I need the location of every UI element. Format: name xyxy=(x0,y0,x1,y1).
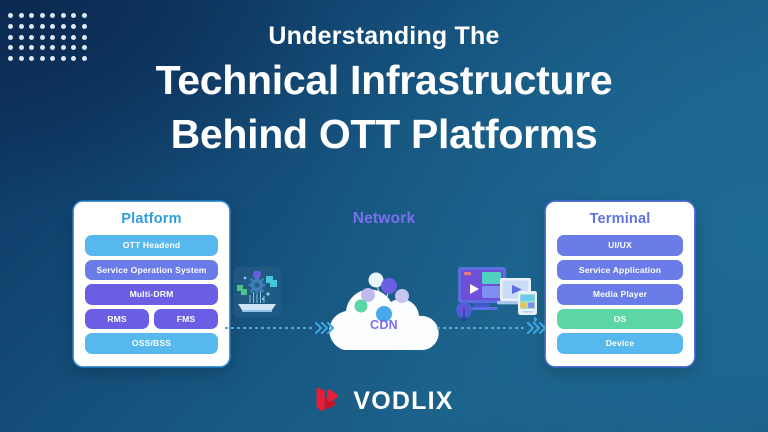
cdn-label: CDN xyxy=(318,318,450,332)
platform-row-service-operation-system[interactable]: Service Operation System xyxy=(85,260,218,281)
dot xyxy=(8,13,13,18)
dashed-line-left xyxy=(225,327,313,329)
terminal-row-os[interactable]: OS xyxy=(557,309,683,330)
page-title-line-1: Technical Infrastructure xyxy=(0,55,768,105)
terminal-row-device[interactable]: Device xyxy=(557,333,683,354)
dot xyxy=(40,13,45,18)
dot xyxy=(19,13,24,18)
dot xyxy=(71,13,76,18)
brand-logo[interactable]: VODLIX xyxy=(0,386,768,417)
dashed-line-right xyxy=(437,327,525,329)
platform-row-rms[interactable]: RMS xyxy=(85,309,149,330)
dot xyxy=(29,13,34,18)
dot xyxy=(82,13,87,18)
platform-to-network-arrow xyxy=(225,322,335,334)
header-block: Understanding The Technical Infrastructu… xyxy=(0,22,768,159)
terminal-row-media-player[interactable]: Media Player xyxy=(557,284,683,305)
network-section-title: Network xyxy=(0,210,768,228)
chevron-right-icon-right xyxy=(527,322,547,334)
platform-row-rms-fms: RMS FMS xyxy=(85,309,218,330)
dot xyxy=(50,13,55,18)
server-gear-icon xyxy=(232,266,282,318)
dot xyxy=(61,13,66,18)
cdn-cloud-icon xyxy=(318,258,450,358)
vodlix-logo-mark xyxy=(314,386,344,417)
platform-row-oss-bss[interactable]: OSS/BSS xyxy=(85,333,218,354)
chevron-right-icon-left xyxy=(315,322,335,334)
platform-row-fms[interactable]: FMS xyxy=(154,309,218,330)
terminal-row-ui-ux[interactable]: UI/UX xyxy=(557,235,683,256)
terminal-row-service-application[interactable]: Service Application xyxy=(557,260,683,281)
brand-logo-text: VODLIX xyxy=(353,387,453,416)
platform-row-ott-headend[interactable]: OTT Headend xyxy=(85,235,218,256)
kicker-text: Understanding The xyxy=(0,22,768,51)
multi-device-streaming-icon xyxy=(452,262,540,324)
poster-canvas: Understanding The Technical Infrastructu… xyxy=(0,0,768,432)
network-to-terminal-arrow xyxy=(437,322,547,334)
page-title-line-2: Behind OTT Platforms xyxy=(0,109,768,159)
platform-row-multi-drm[interactable]: Multi-DRM xyxy=(85,284,218,305)
